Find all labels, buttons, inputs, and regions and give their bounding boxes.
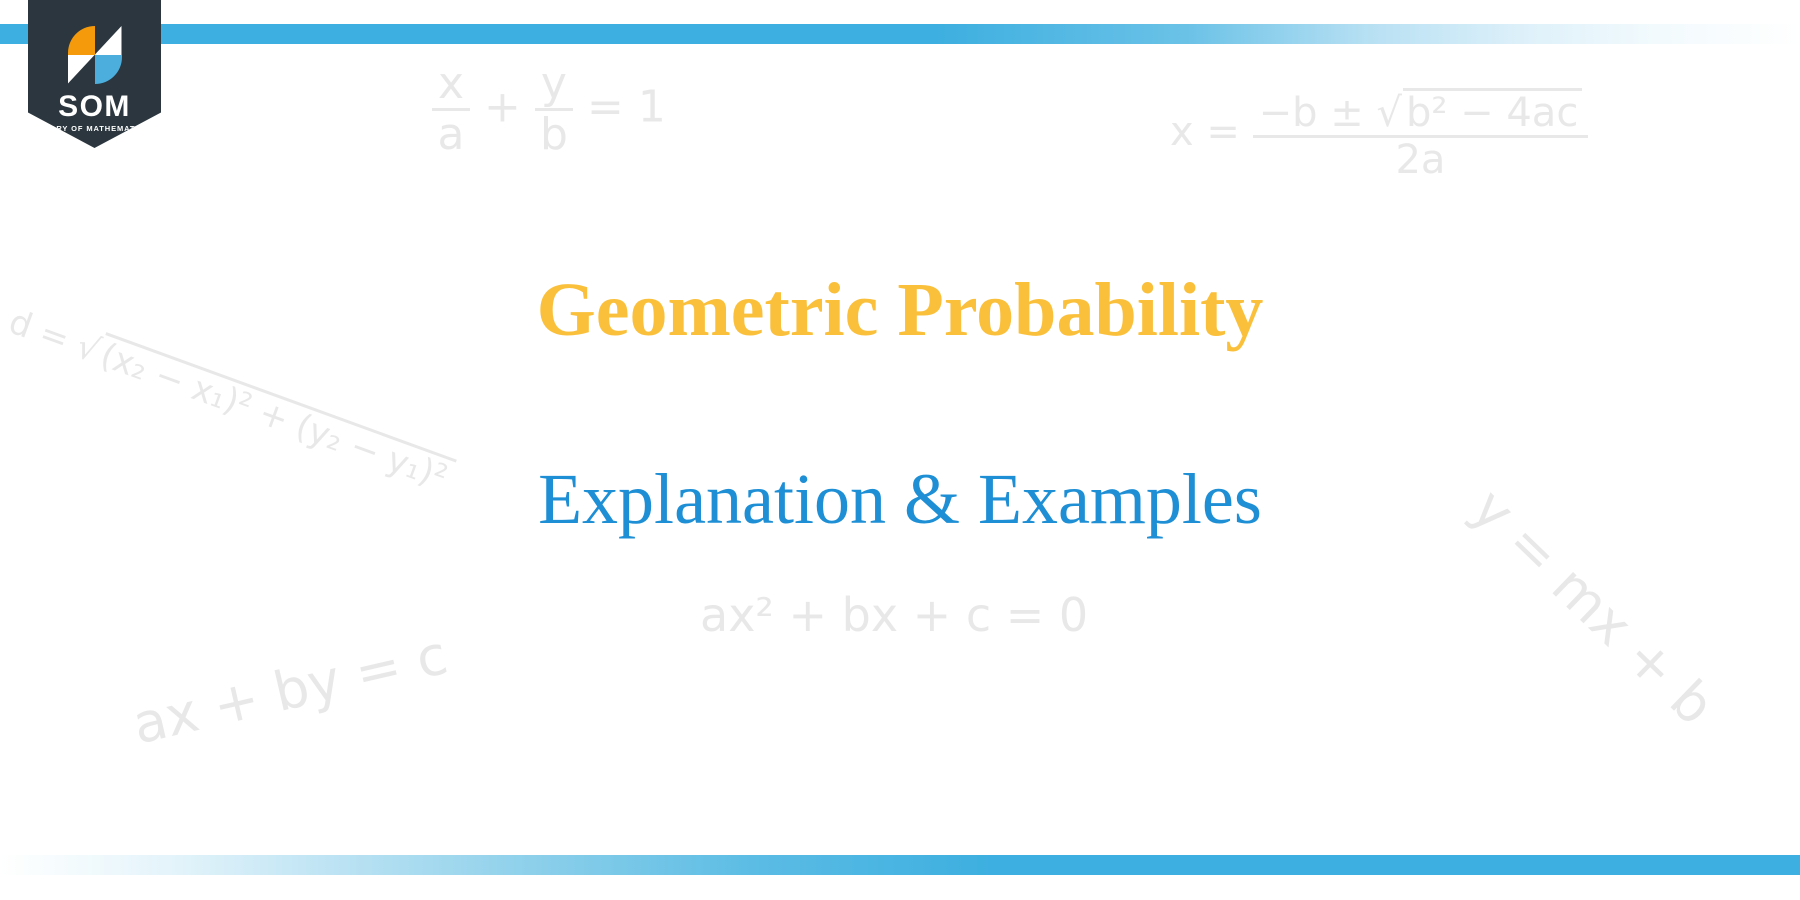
page-subtitle: Explanation & Examples: [0, 460, 1800, 539]
quadratic-formula-lhs: x =: [1170, 109, 1240, 155]
logo-quadrant-orange: [68, 26, 95, 55]
watermark-quadratic-equation: ax² + bx + c = 0: [700, 592, 1088, 638]
quadratic-formula-denominator: 2a: [1253, 138, 1589, 180]
fraction-y-over-b: y b: [535, 62, 573, 157]
watermark-quadratic-formula: x = −b ± √b² − 4ac 2a: [1170, 88, 1588, 180]
bottom-accent-rule: [0, 855, 1800, 875]
radical-sign: √: [1376, 90, 1402, 136]
top-accent-rule: [0, 24, 1800, 44]
brand-name: SOM: [28, 92, 161, 122]
watermark-linear-intercept-form: x a + y b = 1: [432, 62, 666, 157]
quadratic-formula-numerator: −b ± √b² − 4ac: [1253, 88, 1589, 138]
logo-quadrant-white-top: [95, 26, 122, 55]
quadratic-formula-fraction: −b ± √b² − 4ac 2a: [1253, 88, 1589, 180]
equals-one: = 1: [587, 82, 666, 133]
som-logo-mark-icon: [68, 26, 122, 84]
som-logo-badge[interactable]: SOM STORY OF MATHEMATICS: [28, 0, 161, 148]
logo-quadrant-white-bottom: [68, 55, 95, 84]
logo-quadrant-blue: [95, 55, 122, 84]
brand-tagline: STORY OF MATHEMATICS: [28, 125, 161, 133]
plus-sign: +: [484, 82, 521, 133]
fraction-x-over-a: x a: [432, 62, 470, 157]
slide-canvas: x a + y b = 1 x = −b ± √b² − 4ac 2a d = …: [0, 0, 1800, 900]
page-title: Geometric Probability: [0, 269, 1800, 353]
watermark-standard-form-line: ax + by = c: [128, 628, 452, 753]
